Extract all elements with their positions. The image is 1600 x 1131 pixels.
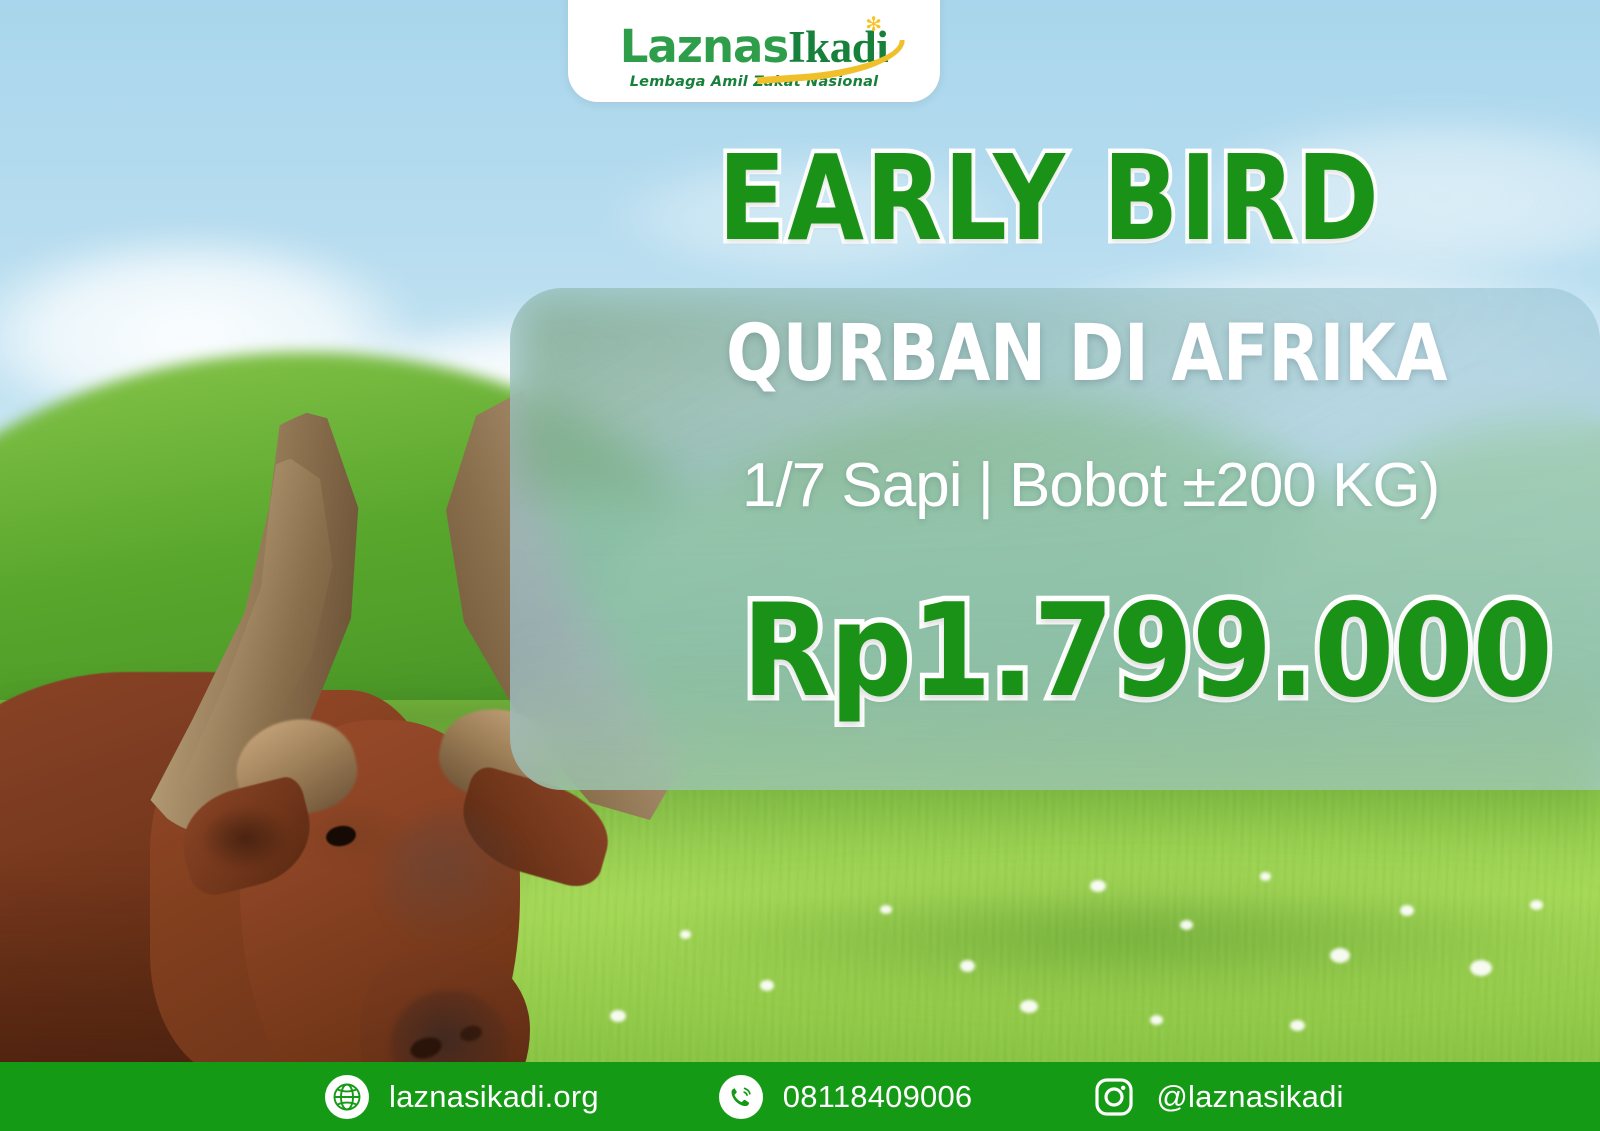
wildflower [1150, 1015, 1163, 1025]
bull-forehead-shade [380, 810, 530, 950]
contact-phone[interactable]: 08118409006 [719, 1075, 973, 1119]
wildflower [1400, 905, 1414, 916]
phone-label: 08118409006 [783, 1079, 973, 1115]
wildflower [1290, 1020, 1305, 1031]
wildflower [1020, 1000, 1038, 1013]
bull-ear-inner [202, 808, 288, 868]
brand-wordmark: LaznasIkadi ✻ [620, 24, 889, 70]
star-flower-icon: ✻ [865, 17, 882, 34]
wildflower [1180, 920, 1193, 930]
wildflower [1090, 880, 1106, 892]
website-label: laznasikadi.org [389, 1079, 599, 1115]
promo-price: Rp1.799.000 [742, 588, 1552, 716]
instagram-icon [1092, 1075, 1136, 1119]
wildflower [1530, 900, 1543, 910]
promo-headline: EARLY BIRD [718, 139, 1381, 257]
wildflower [1470, 960, 1492, 976]
wildflower [1260, 872, 1271, 881]
contact-website[interactable]: laznasikadi.org [325, 1075, 599, 1119]
contact-instagram[interactable]: @laznasikadi [1092, 1075, 1343, 1119]
brand-logo-badge: LaznasIkadi ✻ Lembaga Amil Zakat Nasiona… [568, 0, 940, 102]
wildflower [1330, 948, 1350, 963]
brand-tagline: Lembaga Amil Zakat Nasional [630, 74, 879, 90]
promo-subheadline: QURBAN DI AFRIKA [726, 315, 1447, 393]
promo-specification: 1/7 Sapi | Bobot ±200 KG) [742, 455, 1439, 517]
contact-footer: laznasikadi.org 08118409006 [0, 1062, 1600, 1131]
promo-poster: LaznasIkadi ✻ Lembaga Amil Zakat Nasiona… [0, 0, 1600, 1131]
globe-icon [325, 1075, 369, 1119]
wildflower [960, 960, 975, 972]
wildflower [880, 905, 892, 914]
phone-call-icon [719, 1075, 763, 1119]
instagram-label: @laznasikadi [1156, 1079, 1343, 1115]
